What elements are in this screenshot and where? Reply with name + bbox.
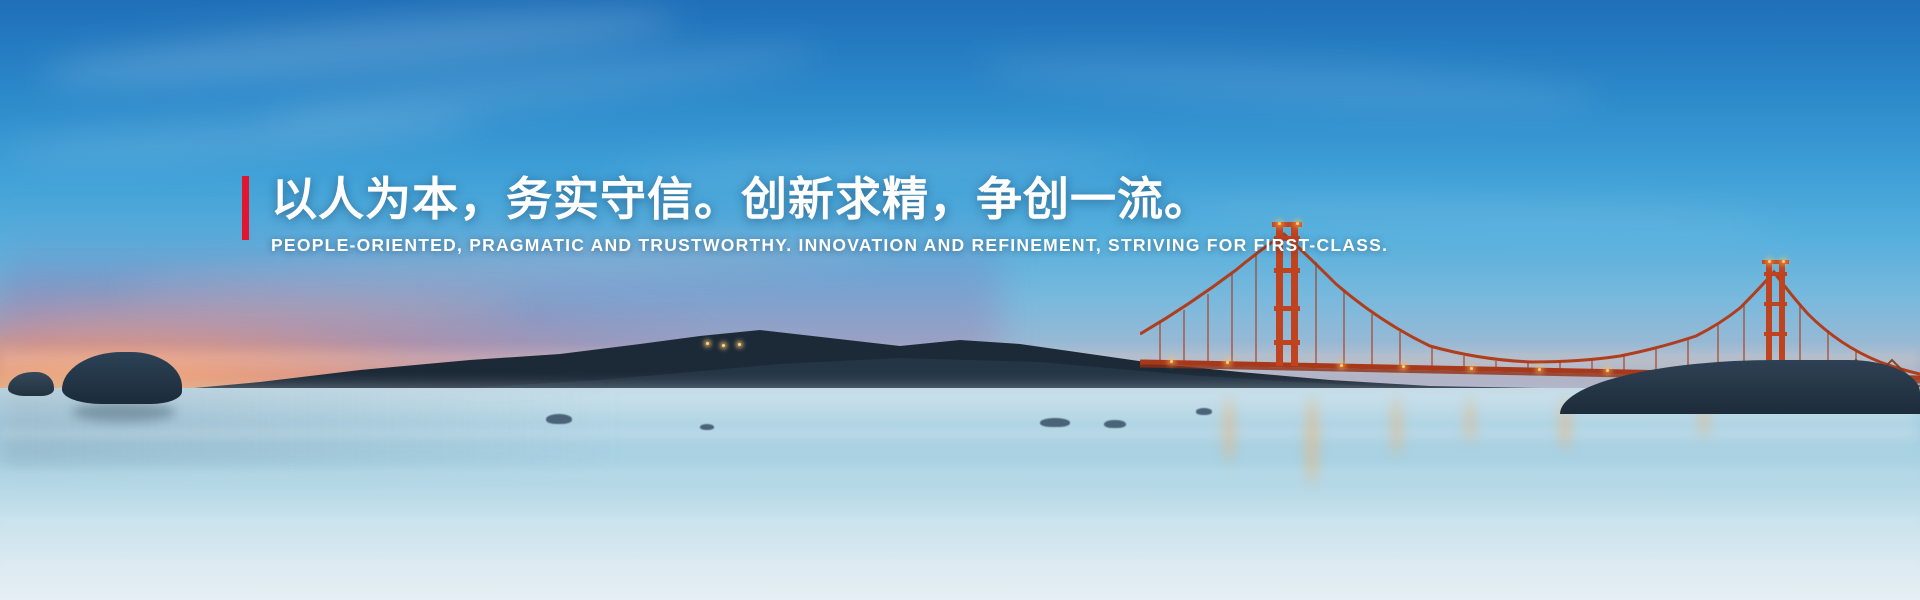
accent-bar [242, 176, 249, 240]
water-stone [1040, 418, 1070, 427]
water-stone [1104, 420, 1126, 428]
water-stone [700, 424, 714, 430]
hill-light [738, 343, 741, 346]
water-ripple [0, 430, 1920, 437]
banner-copy: 以人为本，务实守信。创新求精，争创一流。 PEOPLE-ORIENTED, PR… [242, 176, 1388, 256]
water-ripple [0, 560, 1920, 570]
water-stone [1196, 408, 1212, 415]
rock-reflection [72, 402, 176, 422]
foreground-rock-small [8, 372, 54, 396]
bridge-reflection-glow [1466, 398, 1474, 444]
bridge-reflection-glow [1224, 398, 1234, 462]
bridge-reflection-glow [1306, 398, 1318, 484]
bridge-reflection-glow [1392, 398, 1401, 456]
water-stone [546, 414, 572, 424]
hero-banner: 以人为本，务实守信。创新求精，争创一流。 PEOPLE-ORIENTED, PR… [0, 0, 1920, 600]
hill-light [706, 342, 709, 345]
banner-headline: 以人为本，务实守信。创新求精，争创一流。 [271, 176, 1388, 222]
water-ripple [0, 516, 1920, 525]
hill-light [722, 344, 725, 347]
banner-subheadline: PEOPLE-ORIENTED, PRAGMATIC AND TRUSTWORT… [271, 235, 1388, 256]
water-ripple [0, 470, 1920, 476]
